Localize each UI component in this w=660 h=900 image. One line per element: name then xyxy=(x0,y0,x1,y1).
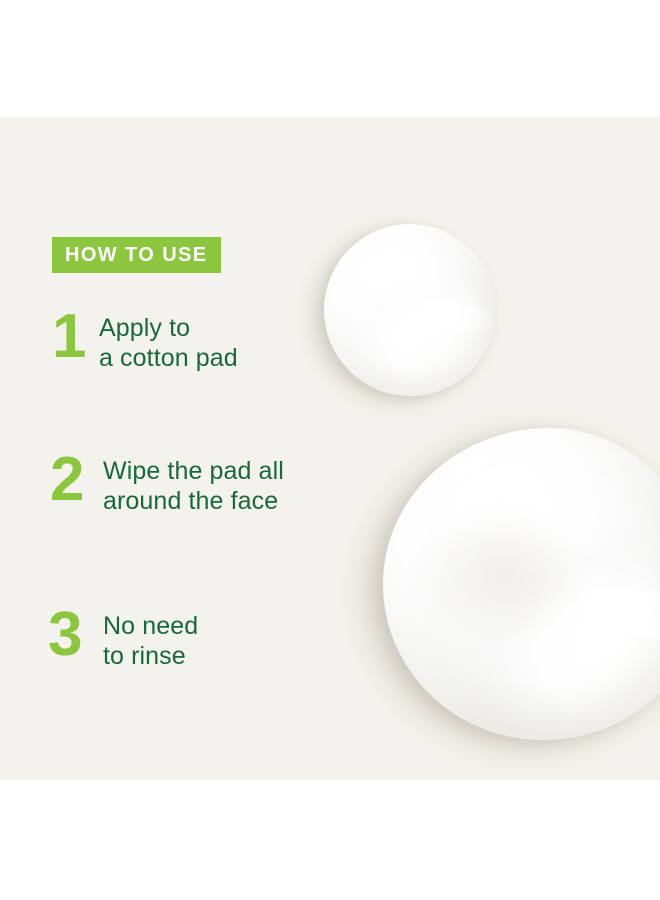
how-to-use-badge: HOW TO USE xyxy=(52,237,221,273)
step-text-3: No need to rinse xyxy=(94,606,198,671)
step-number-1: 1 xyxy=(52,308,98,365)
product-how-to-use-graphic: HOW TO USE 1 Apply to a cotton pad 2 Wip… xyxy=(0,0,660,900)
step-text-1: Apply to a cotton pad xyxy=(98,308,238,373)
step-item-2: 2 Wipe the pad all around the face xyxy=(50,451,284,516)
step-number-3: 3 xyxy=(48,606,94,663)
cream-dollop-small-image xyxy=(324,224,496,396)
how-to-use-badge-label: HOW TO USE xyxy=(65,245,208,265)
step-item-3: 3 No need to rinse xyxy=(48,606,198,671)
step-text-2: Wipe the pad all around the face xyxy=(96,451,284,516)
step-number-2: 2 xyxy=(50,451,96,508)
step-item-1: 1 Apply to a cotton pad xyxy=(52,308,238,373)
